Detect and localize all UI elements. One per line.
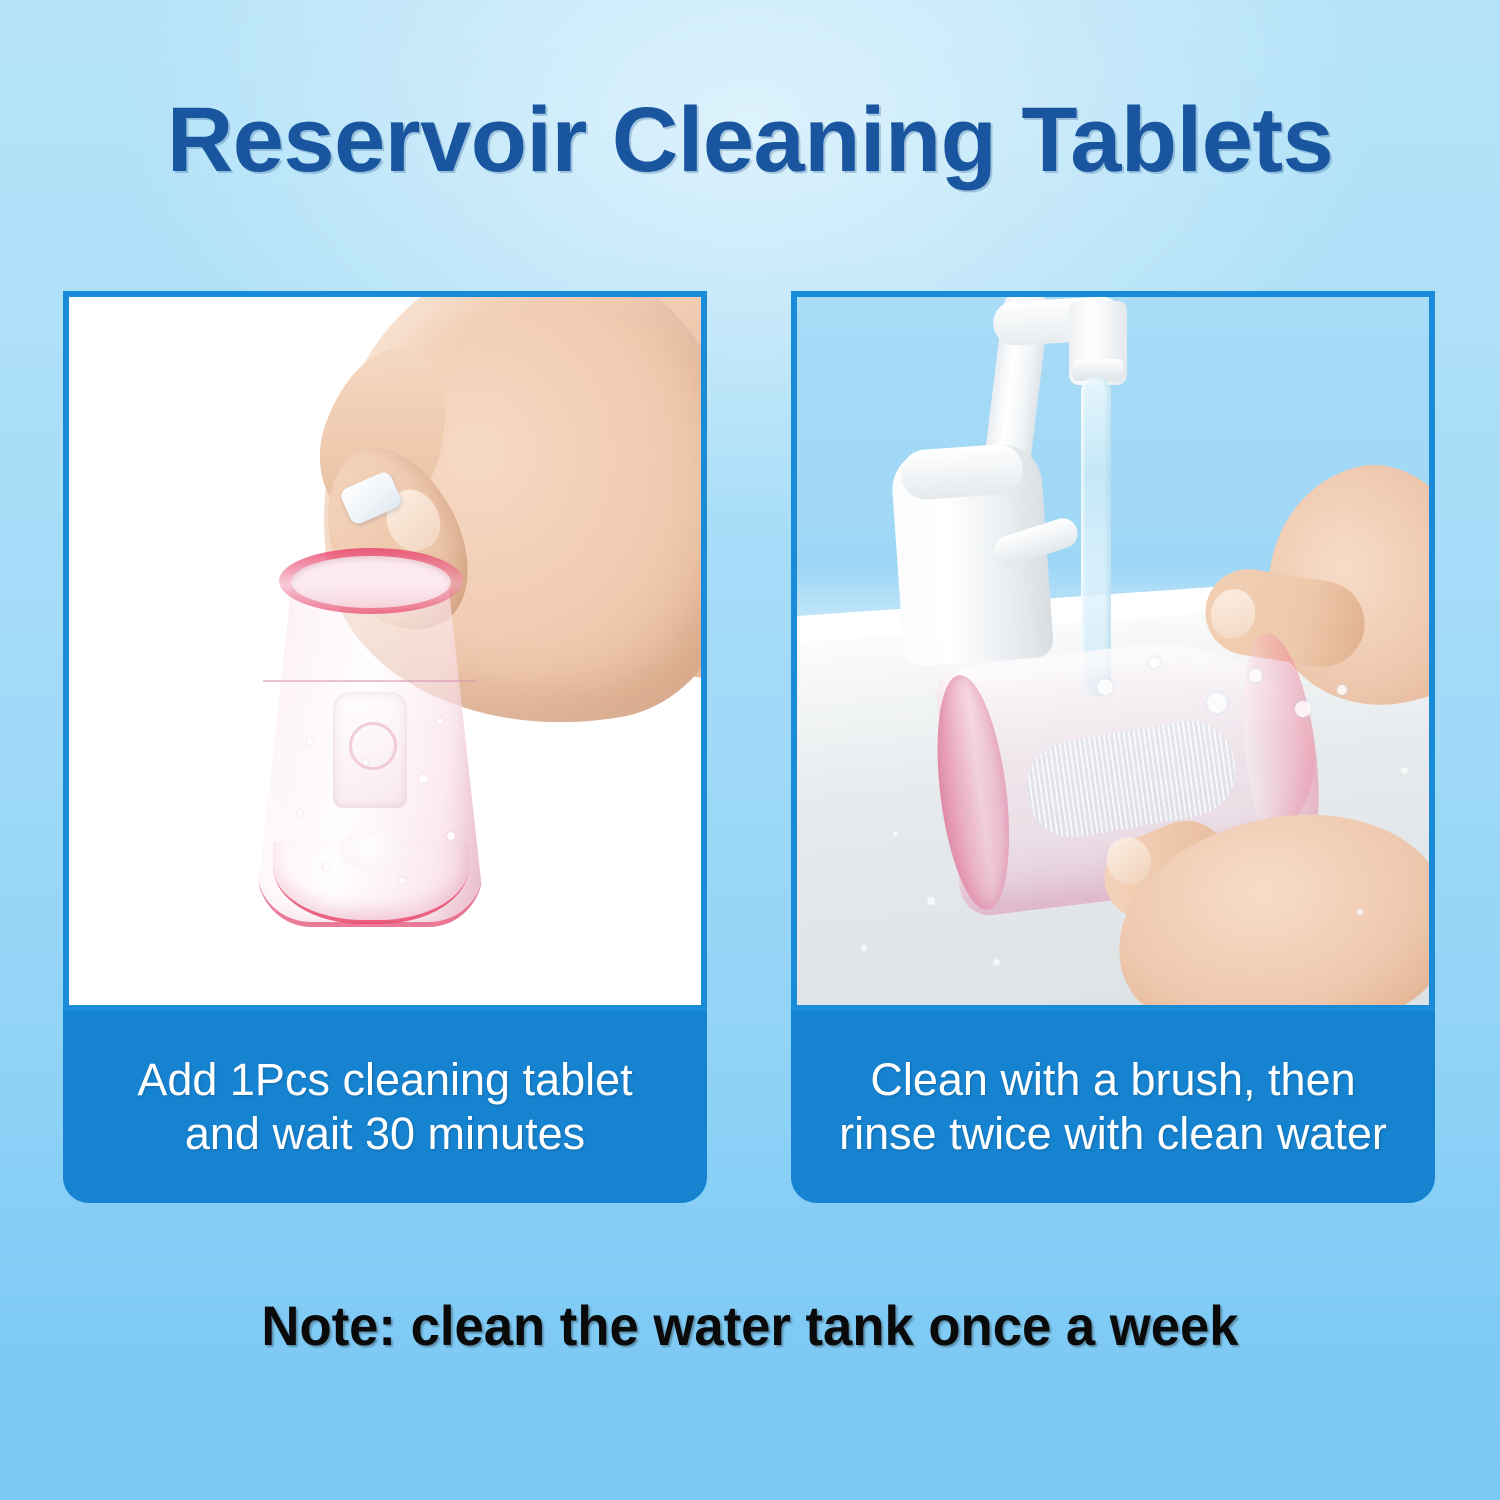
step-1-caption-line2: and wait 30 minutes [185, 1108, 585, 1159]
step-1-caption: Add 1Pcs cleaning tablet and wait 30 min… [63, 1011, 707, 1203]
step-1-caption-line1: Add 1Pcs cleaning tablet [137, 1054, 632, 1105]
water-droplet [861, 945, 867, 951]
reservoir-tank-upright [251, 542, 489, 924]
water-droplet [1401, 767, 1408, 774]
step-2-caption-text: Clean with a brush, then rinse twice wit… [839, 1053, 1387, 1161]
tank-rim-inner [291, 556, 451, 608]
faucet-collar [899, 443, 1024, 501]
tank-residue [339, 828, 401, 870]
step-2-caption-line2: rinse twice with clean water [839, 1108, 1387, 1159]
bubble [363, 760, 368, 765]
bubble [323, 864, 330, 871]
water-splash [1295, 701, 1311, 717]
bubble [419, 774, 428, 783]
water-droplet [1357, 909, 1363, 915]
water-splash [1207, 693, 1227, 713]
water-splash [1097, 679, 1113, 695]
step-1-caption-text: Add 1Pcs cleaning tablet and wait 30 min… [137, 1053, 632, 1161]
bubble [399, 878, 405, 884]
water-droplet [893, 831, 898, 836]
footer-note: Note: clean the water tank once a week [45, 1293, 1455, 1359]
water-droplet [927, 897, 935, 905]
water-splash [1149, 657, 1160, 668]
water-splash [1249, 669, 1262, 682]
water-splash [1337, 685, 1347, 695]
page-title: Reservoir Cleaning Tablets [0, 86, 1500, 194]
water-droplet [993, 959, 1000, 966]
bubble [307, 738, 314, 745]
bubble [447, 832, 455, 840]
step-card-rinse: Clean with a brush, then rinse twice wit… [791, 291, 1435, 1203]
step-1-photo [63, 291, 707, 1011]
product-infographic: Reservoir Cleaning Tablets [0, 0, 1500, 1500]
step-2-photo [791, 291, 1435, 1011]
bubble [297, 810, 303, 816]
bubble [437, 718, 443, 724]
tank-waterline [263, 680, 477, 682]
step-card-add-tablet: Add 1Pcs cleaning tablet and wait 30 min… [63, 291, 707, 1203]
tank-valve [333, 692, 407, 808]
step-2-caption-line1: Clean with a brush, then [870, 1054, 1355, 1105]
step-2-caption: Clean with a brush, then rinse twice wit… [791, 1011, 1435, 1203]
